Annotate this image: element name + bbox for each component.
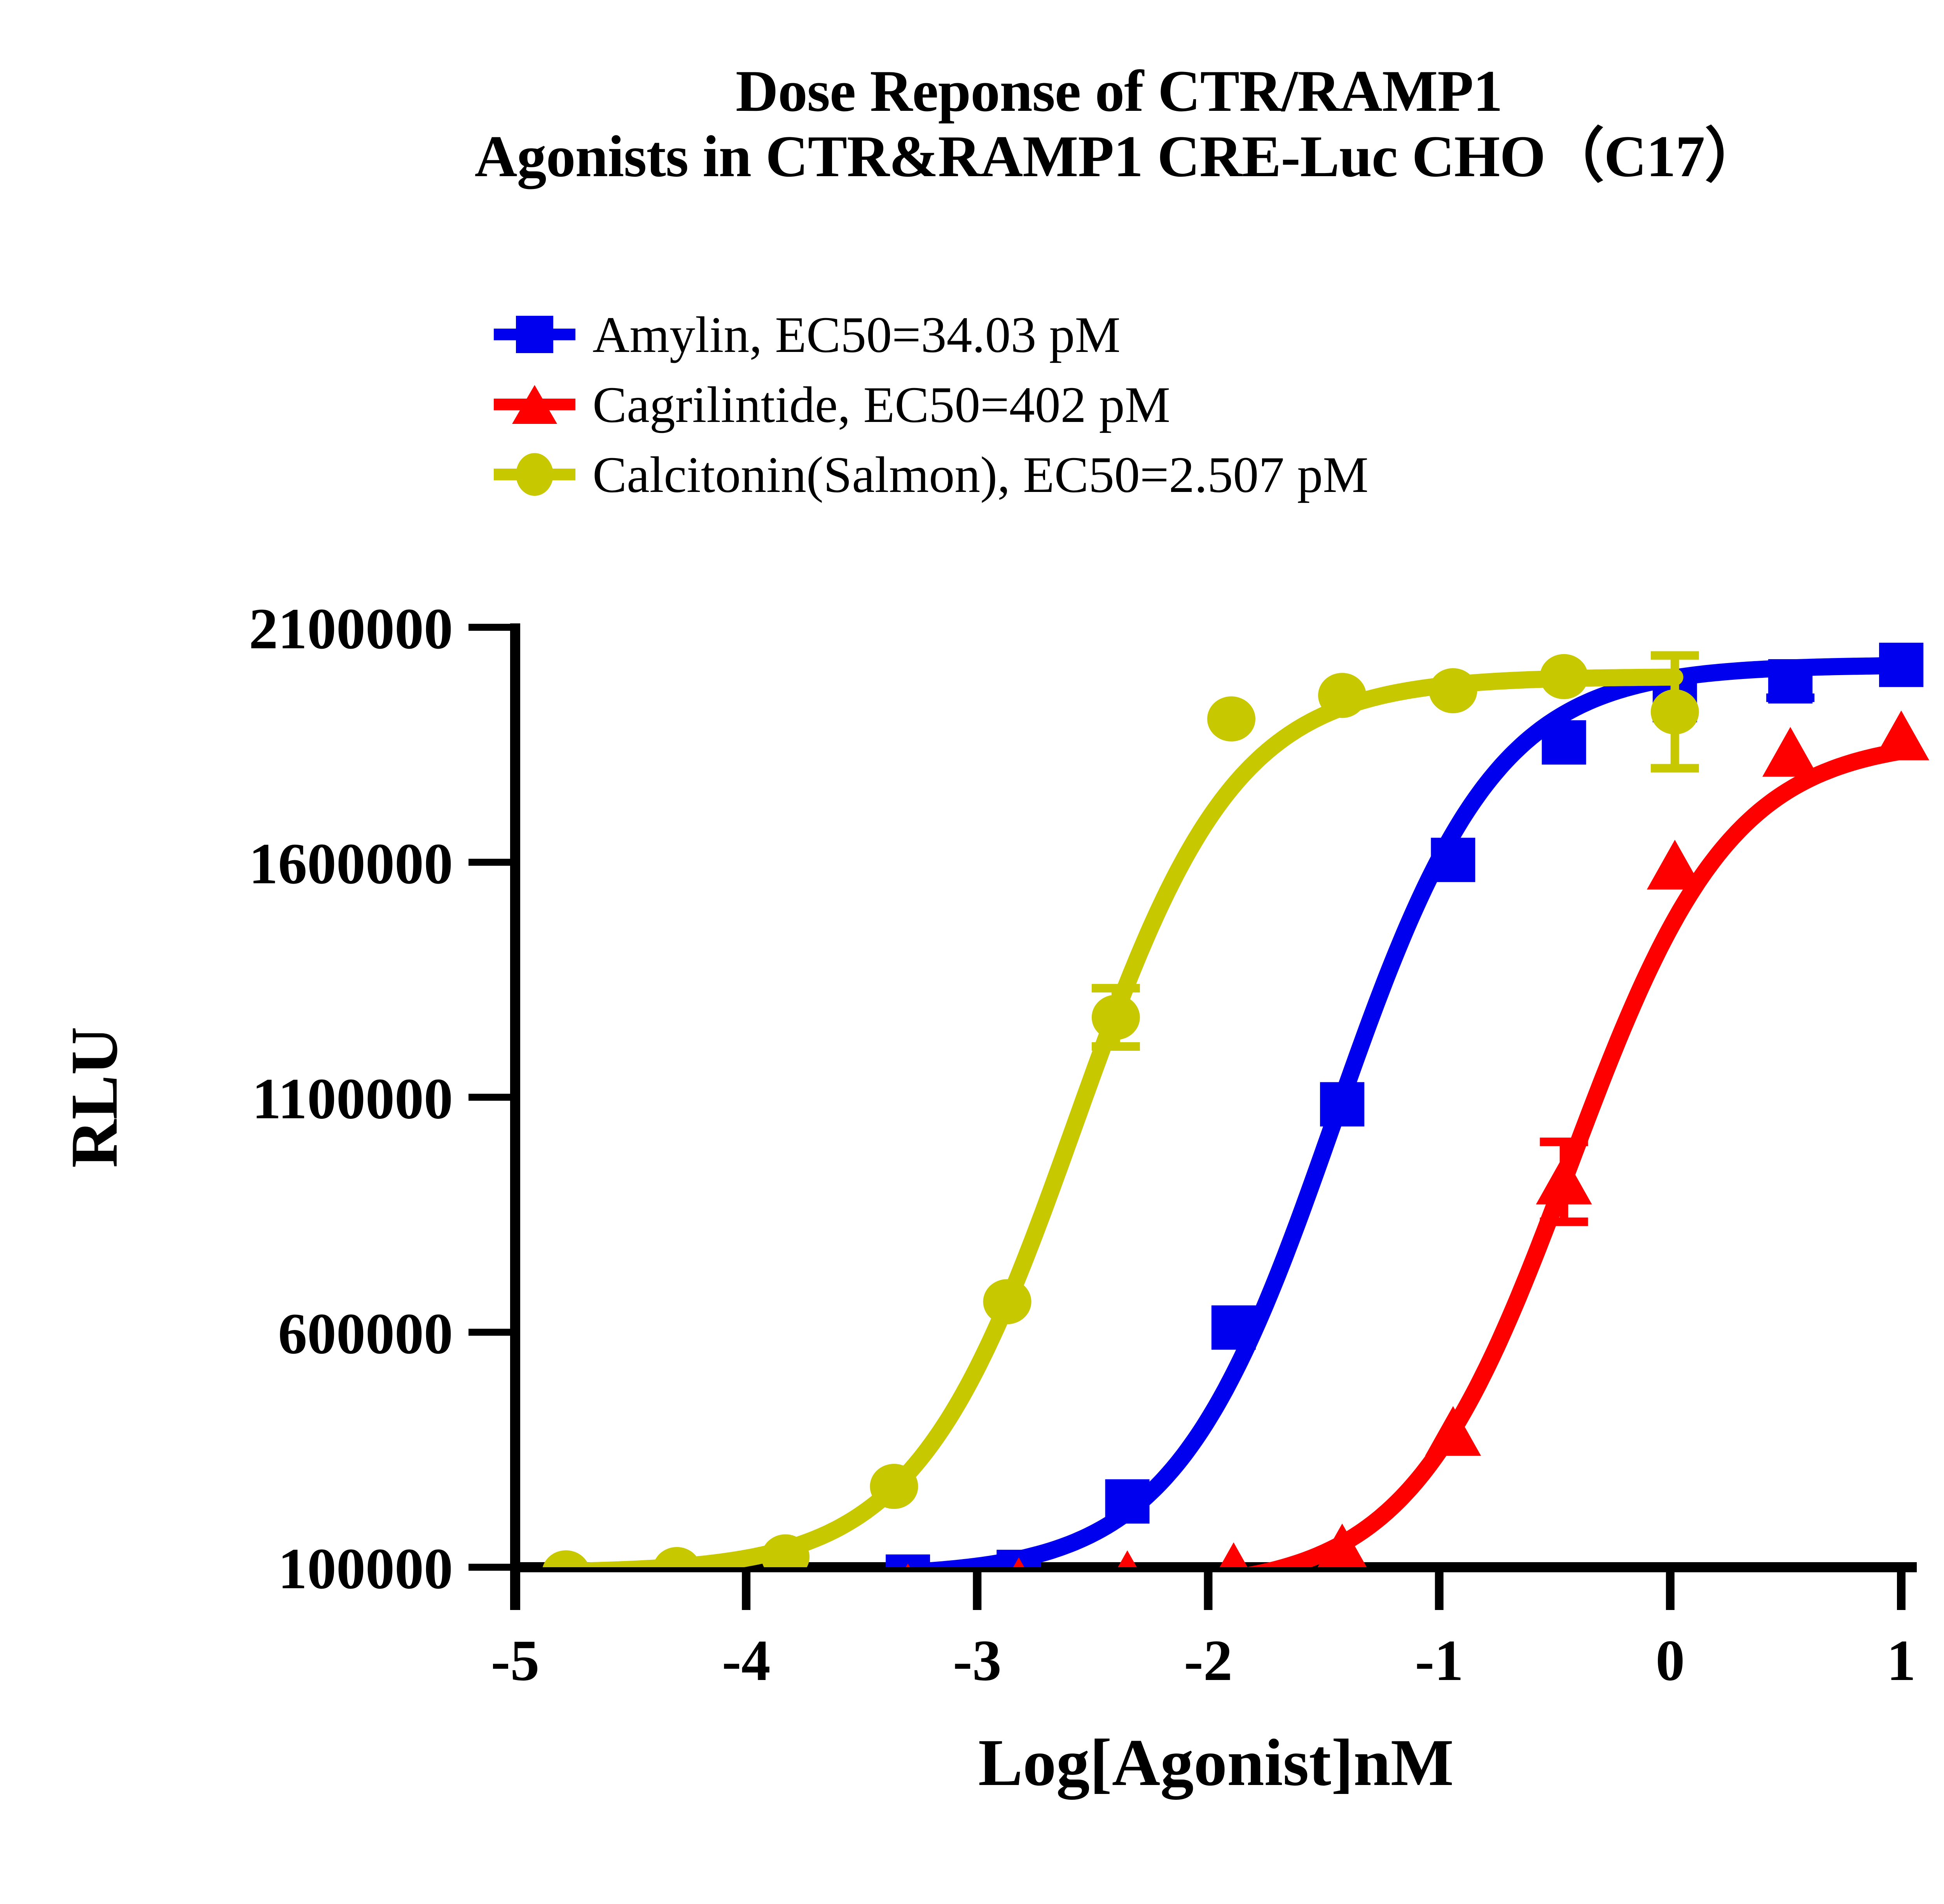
data-point-circle	[1207, 696, 1255, 742]
data-point-square	[1768, 659, 1813, 703]
plot-area: 100000600000110000016000002100000-5-4-3-…	[0, 0, 1944, 1904]
x-tick-label: -2	[1184, 1628, 1232, 1693]
data-point-triangle	[1536, 1155, 1592, 1204]
chart-page: Dose Reponse of CTR/RAMP1 Agonists in CT…	[0, 0, 1944, 1904]
data-point-square	[886, 1554, 930, 1599]
data-point-circle	[1651, 689, 1699, 735]
data-point-triangle	[1762, 727, 1818, 777]
data-point-square	[1879, 643, 1923, 687]
y-tick-label: 1100000	[252, 1067, 453, 1131]
x-tick-label: -5	[491, 1628, 540, 1693]
x-tick-label: 0	[1656, 1628, 1685, 1693]
data-point-circle	[983, 1279, 1031, 1324]
series-line-calcitonin-salmon-	[566, 677, 1675, 1571]
series-group	[542, 643, 1929, 1613]
data-point-triangle	[1873, 710, 1929, 760]
data-point-circle	[870, 1464, 918, 1509]
data-point-square	[1105, 1479, 1150, 1524]
x-tick-label: 1	[1887, 1628, 1916, 1693]
data-point-triangle	[1425, 1406, 1481, 1456]
data-point-square	[1431, 838, 1475, 882]
x-tick-label: -3	[953, 1628, 1002, 1693]
y-axis-title: RLU	[58, 1027, 131, 1168]
data-point-circle	[1092, 995, 1140, 1040]
x-tick-label: -1	[1415, 1628, 1463, 1693]
data-point-square	[1542, 720, 1586, 765]
chart-svg: 100000600000110000016000002100000-5-4-3-…	[0, 0, 1944, 1904]
x-axis-title: Log[Agonist]nM	[978, 1726, 1454, 1800]
data-point-circle	[1318, 673, 1366, 718]
y-tick-label: 2100000	[249, 597, 453, 661]
data-point-triangle	[1100, 1550, 1156, 1600]
y-tick-label: 1600000	[249, 831, 453, 896]
data-point-circle	[761, 1534, 809, 1579]
data-point-circle	[1540, 654, 1588, 699]
data-point-square	[1212, 1305, 1256, 1350]
data-point-circle	[542, 1550, 590, 1596]
data-point-circle	[1429, 668, 1477, 713]
y-tick-label: 100000	[278, 1536, 453, 1601]
x-tick-label: -4	[722, 1628, 771, 1693]
series-line-amylin	[908, 666, 1901, 1572]
data-point-triangle	[1647, 840, 1703, 889]
y-tick-label: 600000	[278, 1302, 453, 1366]
data-point-square	[1320, 1082, 1364, 1127]
